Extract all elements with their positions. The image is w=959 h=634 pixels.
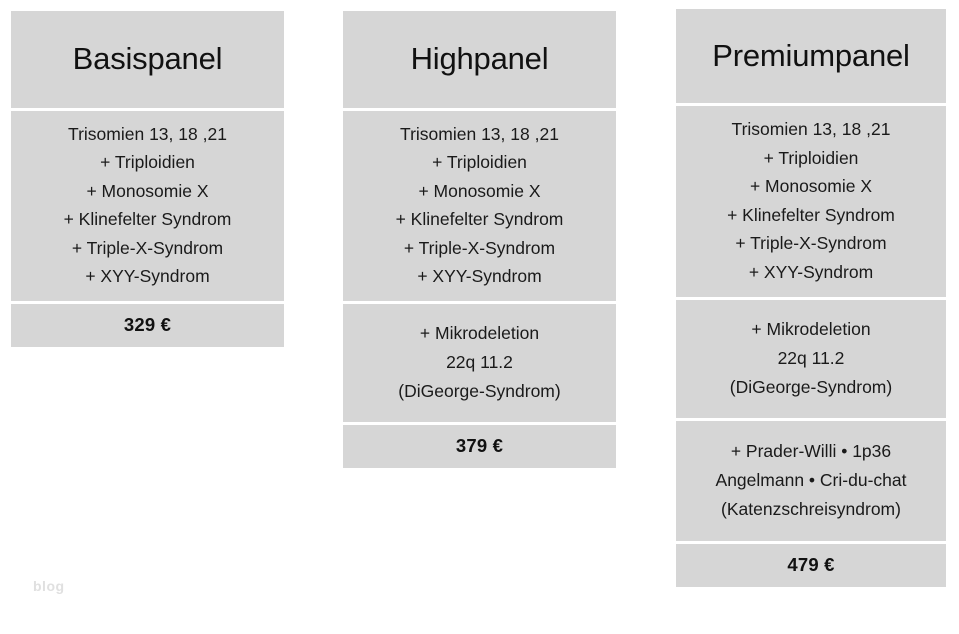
- extra-item: (Katenzschreisyndrom): [716, 495, 907, 524]
- pricing-panel-basis[interactable]: Basispanel Trisomien 13, 18 ,21 + Triplo…: [11, 11, 284, 347]
- feature-item: + Triploidien: [396, 148, 564, 177]
- extra-item: (DiGeorge-Syndrom): [398, 377, 560, 406]
- panel-extra-block: + Mikrodeletion 22q 11.2 (DiGeorge-Syndr…: [676, 300, 946, 418]
- feature-item: + Klinefelter Syndrom: [727, 201, 895, 230]
- feature-item: + Klinefelter Syndrom: [396, 205, 564, 234]
- panel-features-block: Trisomien 13, 18 ,21 + Triploidien + Mon…: [343, 111, 616, 301]
- pricing-panels-board: Basispanel Trisomien 13, 18 ,21 + Triplo…: [0, 0, 959, 634]
- feature-item: + XYY-Syndrom: [396, 262, 564, 291]
- extra-list: + Mikrodeletion 22q 11.2 (DiGeorge-Syndr…: [730, 315, 892, 402]
- feature-item: + Monosomie X: [727, 172, 895, 201]
- extra-item: + Prader-Willi • 1p36: [716, 437, 907, 466]
- feature-item: + Triple-X-Syndrom: [64, 234, 232, 263]
- feature-item: + Triploidien: [727, 144, 895, 173]
- pricing-panel-high[interactable]: Highpanel Trisomien 13, 18 ,21 + Triploi…: [343, 11, 616, 468]
- panel-price: 379 €: [456, 435, 503, 457]
- panel-price: 479 €: [787, 554, 834, 576]
- feature-item: Trisomien 13, 18 ,21: [727, 115, 895, 144]
- feature-item: + Triploidien: [64, 148, 232, 177]
- panel-title: Highpanel: [411, 42, 549, 76]
- feature-item: + Triple-X-Syndrom: [727, 229, 895, 258]
- panel-title: Basispanel: [73, 42, 223, 76]
- feature-item: + Klinefelter Syndrom: [64, 205, 232, 234]
- feature-item: + Monosomie X: [396, 177, 564, 206]
- extra-item: 22q 11.2: [398, 348, 560, 377]
- extra-item: + Mikrodeletion: [730, 315, 892, 344]
- feature-list: Trisomien 13, 18 ,21 + Triploidien + Mon…: [727, 115, 895, 286]
- extra-item: (DiGeorge-Syndrom): [730, 373, 892, 402]
- feature-item: + XYY-Syndrom: [64, 262, 232, 291]
- blog-watermark: blog: [33, 578, 65, 594]
- extra-item: Angelmann • Cri-du-chat: [716, 466, 907, 495]
- extra-list: + Prader-Willi • 1p36 Angelmann • Cri-du…: [716, 437, 907, 524]
- panel-price-block[interactable]: 379 €: [343, 425, 616, 468]
- extra-item: 22q 11.2: [730, 344, 892, 373]
- feature-item: Trisomien 13, 18 ,21: [396, 120, 564, 149]
- feature-item: + Triple-X-Syndrom: [396, 234, 564, 263]
- panel-features-block: Trisomien 13, 18 ,21 + Triploidien + Mon…: [11, 111, 284, 301]
- panel-title: Premiumpanel: [712, 39, 909, 73]
- panel-price: 329 €: [124, 314, 171, 336]
- panel-title-block: Basispanel: [11, 11, 284, 108]
- pricing-panel-premium[interactable]: Premiumpanel Trisomien 13, 18 ,21 + Trip…: [676, 9, 946, 587]
- panel-title-block: Premiumpanel: [676, 9, 946, 103]
- panel-title-block: Highpanel: [343, 11, 616, 108]
- feature-item: Trisomien 13, 18 ,21: [64, 120, 232, 149]
- feature-list: Trisomien 13, 18 ,21 + Triploidien + Mon…: [64, 120, 232, 291]
- panel-price-block[interactable]: 329 €: [11, 304, 284, 347]
- extra-item: + Mikrodeletion: [398, 319, 560, 348]
- panel-features-block: Trisomien 13, 18 ,21 + Triploidien + Mon…: [676, 106, 946, 297]
- feature-list: Trisomien 13, 18 ,21 + Triploidien + Mon…: [396, 120, 564, 291]
- panel-extra-block: + Mikrodeletion 22q 11.2 (DiGeorge-Syndr…: [343, 304, 616, 422]
- feature-item: + Monosomie X: [64, 177, 232, 206]
- extra-list: + Mikrodeletion 22q 11.2 (DiGeorge-Syndr…: [398, 319, 560, 406]
- panel-extra-block: + Prader-Willi • 1p36 Angelmann • Cri-du…: [676, 421, 946, 541]
- panel-price-block[interactable]: 479 €: [676, 544, 946, 587]
- feature-item: + XYY-Syndrom: [727, 258, 895, 287]
